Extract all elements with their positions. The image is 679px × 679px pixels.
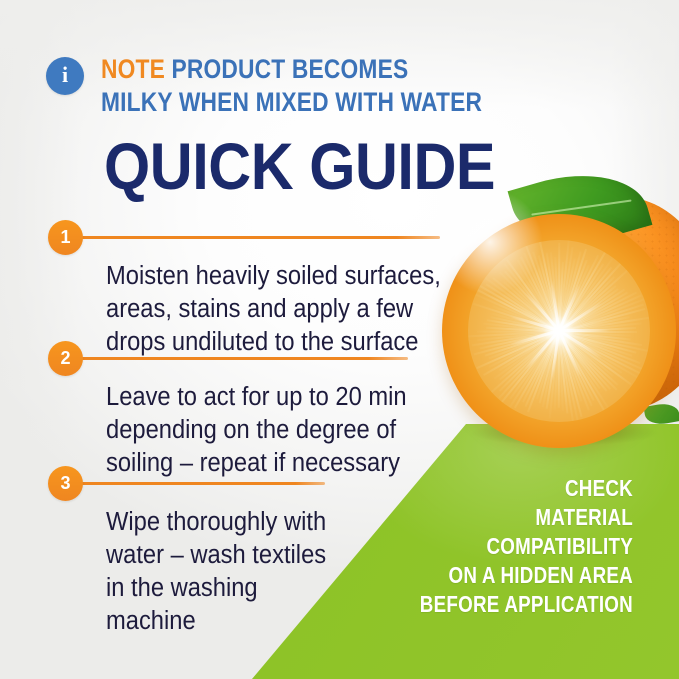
orange-segment-line [549,332,560,419]
info-icon-glyph: i [62,64,68,86]
orange-segment-line [477,331,559,341]
orange-segment-line [559,289,625,333]
orange-segment-line [522,331,559,402]
green-leaf-small-image [644,401,679,427]
orange-segment-line [554,332,560,410]
orange-pith-line [558,302,602,332]
orange-segment-line [558,262,563,332]
notice-line-3: COMPATIBILITY [393,532,633,561]
step-2-number-badge: 2 [48,341,83,376]
orange-segment-line [558,258,575,332]
orange-pith-line [510,315,560,332]
step-3-bullet-row: 3 [0,466,343,500]
orange-segment-line [558,332,578,421]
orange-segment-line [559,322,642,332]
orange-segment-line [525,331,560,407]
orange-segment-line [559,298,645,332]
orange-segment-line [558,332,564,411]
orange-segment-line [558,331,594,400]
orange-segment-line [558,246,573,332]
notice-line-5: BEFORE APPLICATION [393,590,633,619]
orange-segment-line [558,332,574,423]
orange-pith-line [524,330,560,371]
orange-segment-line [558,265,589,332]
orange-segment-line [558,276,614,332]
orange-segment-line [559,327,636,333]
step-2-divider [80,357,408,360]
orange-segment-line [559,316,650,332]
orange-segment-line [558,251,606,332]
orange-segment-line [558,331,604,409]
orange-segment-line [473,303,559,332]
orange-segment-line [499,331,559,371]
orange-segment-line [494,331,560,379]
step-item-1: 1 Moisten heavily soiled surfaces, areas… [0,220,466,359]
orange-pith-line [559,329,610,332]
product-quick-guide-poster: i NOTE PRODUCT BECOMES MILKY WHEN MIXED … [0,0,679,679]
orange-segment-line [558,331,593,406]
orange-segment-line [559,291,638,332]
orange-segment-line [558,268,629,332]
material-compatibility-notice: CHECKMATERIALCOMPATIBILITYON A HIDDEN AR… [393,474,633,619]
orange-segment-line [559,331,637,353]
orange-pith-line [558,330,582,378]
orange-segment-line [558,267,612,333]
note-line2: MILKY WHEN MIXED WITH WATER [101,87,482,117]
orange-segment-line [558,332,560,408]
orange-segment-line [558,285,616,332]
orange-segment-line [559,331,623,373]
orange-segment-line [559,308,646,333]
orange-segment-line [558,331,611,389]
orange-segment-line [500,331,560,404]
orange-segment-line [558,263,621,333]
orange-segment-line [558,249,586,332]
step-1-bullet-row: 1 [0,220,466,254]
orange-segment-line [559,331,638,378]
orange-segment-line [527,331,559,412]
orange-segment-line [492,305,559,332]
orange-segment-line [542,332,560,408]
step-item-2: 2 Leave to act for up to 20 min dependin… [0,341,429,480]
step-3-divider [80,482,325,485]
orange-segment-line [509,331,559,399]
orange-pith-line [558,330,603,360]
orange-segment-line [487,320,559,333]
orange-segment-line [559,331,632,384]
orange-segment-line [558,251,581,332]
note-banner: i NOTE PRODUCT BECOMES MILKY WHEN MIXED … [46,53,544,119]
orange-core [554,326,565,337]
orange-pith-line [550,280,560,331]
orange-segment-line [559,316,630,333]
orange-segment-line [558,332,582,417]
orange-segment-line [558,255,598,332]
orange-segment-line [558,331,590,410]
orange-segment-line [485,331,560,357]
orange-segment-line [558,331,607,391]
orange-pith-line [550,331,560,382]
step-3-number-badge: 3 [48,466,83,501]
orange-segment-line [490,313,559,333]
step-1-number-badge: 1 [48,220,83,255]
orange-segment-line [477,331,559,333]
orange-segment-line [499,331,559,391]
orange-segment-line [486,327,559,332]
orange-segment-line [558,331,613,376]
step-1-divider [80,236,440,239]
note-keyword: NOTE [101,54,165,84]
orange-segment-line [559,288,619,332]
orange-segment-line [558,331,609,408]
note-text: NOTE PRODUCT BECOMES MILKY WHEN MIXED WI… [101,53,482,119]
orange-segment-line [489,331,559,368]
orange-segment-line [509,331,559,407]
orange-segment-line [559,331,637,333]
orange-segment-line [491,317,560,333]
orange-segment-line [559,331,631,336]
notice-line-2: MATERIAL [393,503,633,532]
orange-segment-line [554,256,560,331]
orange-segment-line [476,331,559,369]
orange-segment-line [474,331,560,355]
orange-segment-line [559,331,641,364]
orange-segment-line [558,258,612,332]
orange-segment-line [546,332,560,409]
notice-line-1: CHECK [393,474,633,503]
orange-segment-line [558,331,617,390]
orange-segment-line [558,331,601,389]
orange-segment-line [536,332,560,400]
orange-segment-line [468,331,559,338]
orange-segment-line [559,291,628,332]
orange-segment-line [559,294,642,332]
orange-segment-line [558,243,560,332]
orange-segment-line [550,253,560,332]
orange-segment-line [559,331,650,352]
orange-segment-line [559,331,631,340]
orange-segment-line [558,240,569,332]
orange-segment-line [559,331,642,346]
orange-segment-line [483,331,559,376]
orange-pith-line [558,284,582,332]
notice-line-4: ON A HIDDEN AREA [393,561,633,590]
orange-segment-line [558,263,603,332]
orange-segment-line [559,331,646,371]
orange-pith-line [510,330,560,347]
step-2-bullet-row: 2 [0,341,429,375]
orange-segment-line [489,331,560,395]
orange-segment-line [558,331,618,385]
orange-segment-line [559,304,644,333]
orange-segment-line [559,331,640,374]
orange-segment-line [558,332,568,414]
orange-segment-line [558,260,587,332]
orange-segment-line [499,331,559,380]
orange-segment-line [480,331,559,349]
orange-segment-line [559,331,632,356]
step-3-text: Wipe thoroughly with water – wash textil… [106,506,326,638]
orange-segment-line [472,331,559,346]
orange-segment-line [539,332,560,403]
orange-segment-line [499,331,560,398]
page-title: QUICK GUIDE [104,133,495,199]
orange-segment-line [514,331,559,408]
step-item-3: 3 Wipe thoroughly with water – wash text… [0,466,343,638]
note-line1-rest: PRODUCT BECOMES [165,54,408,84]
orange-segment-line [489,331,559,359]
orange-segment-line [483,323,559,333]
info-icon: i [46,57,84,95]
orange-segment-line [558,332,582,402]
